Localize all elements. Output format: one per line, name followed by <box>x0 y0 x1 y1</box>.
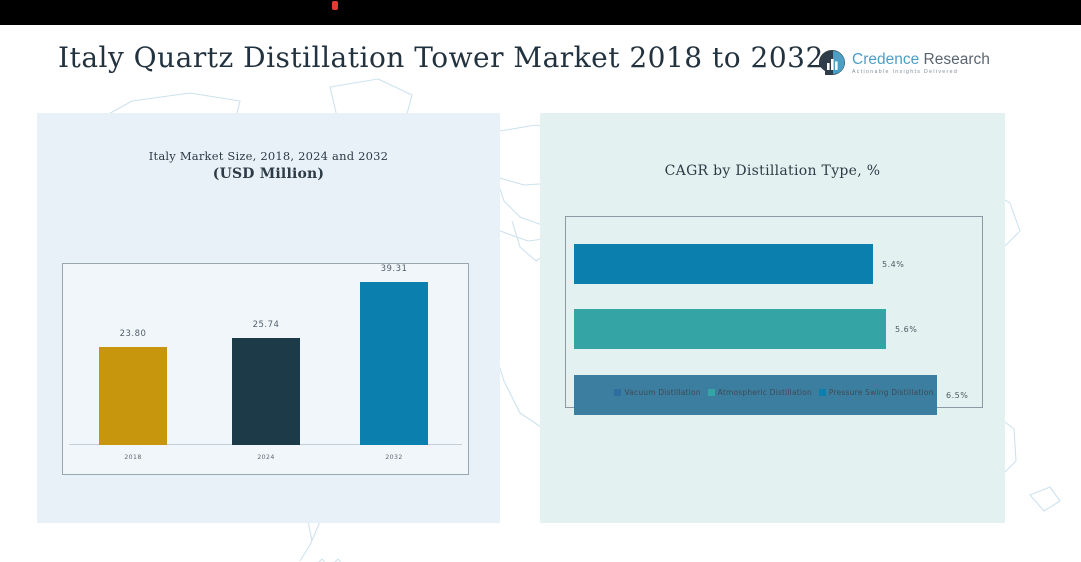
right-panel: CAGR by Distillation Type, % 5.4% 5.6% 6… <box>540 113 1005 523</box>
bar-label-2024: 2024 <box>257 454 274 461</box>
hbar-row-atmospheric[interactable]: 5.6% <box>574 309 917 349</box>
chart-legend: Vacuum Distillation Atmospheric Distilla… <box>566 388 982 397</box>
bar-value-2024: 25.74 <box>253 320 280 330</box>
legend-item-atmospheric[interactable]: Atmospheric Distillation <box>708 388 812 397</box>
legend-label-pressure-swing: Pressure Swing Distillation <box>829 388 934 397</box>
legend-label-atmospheric: Atmospheric Distillation <box>718 388 812 397</box>
logo-name-primary: Credence <box>852 51 919 68</box>
legend-item-vacuum[interactable]: Vacuum Distillation <box>614 388 700 397</box>
legend-swatch-icon <box>708 389 715 396</box>
hbar-atmospheric[interactable] <box>574 309 886 349</box>
bar-group-2024[interactable]: 25.74 2024 <box>232 338 300 445</box>
credence-research-logo[interactable]: Credence Research Actionable Insights De… <box>818 43 988 83</box>
legend-item-pressure-swing[interactable]: Pressure Swing Distillation <box>819 388 934 397</box>
top-black-bar <box>0 0 1081 25</box>
hbar-value-atmospheric: 5.6% <box>895 325 917 334</box>
bar-group-2018[interactable]: 23.80 2018 <box>99 347 167 445</box>
logo-tagline: Actionable Insights Delivered <box>852 68 990 76</box>
cagr-bar-chart[interactable]: 5.4% 5.6% 6.5% Vacuum Distillation Atmos… <box>565 216 983 408</box>
legend-swatch-icon <box>819 389 826 396</box>
header: Italy Quartz Distillation Tower Market 2… <box>0 25 1081 113</box>
bar-group-2032[interactable]: 39.31 2032 <box>360 282 428 445</box>
left-chart-subtitle: (USD Million) <box>37 166 500 182</box>
bar-label-2018: 2018 <box>124 454 141 461</box>
bar-label-2032: 2032 <box>385 454 402 461</box>
hbar-row-vacuum[interactable]: 5.4% <box>574 244 904 284</box>
hbar-value-vacuum: 5.4% <box>882 260 904 269</box>
bar-2024[interactable]: 25.74 2024 <box>232 338 300 445</box>
logo-text: Credence Research Actionable Insights De… <box>852 51 990 76</box>
vertical-bar-plot-area: 23.80 2018 25.74 2024 39.31 2032 <box>63 264 468 474</box>
bar-2032[interactable]: 39.31 2032 <box>360 282 428 445</box>
left-chart-title: Italy Market Size, 2018, 2024 and 2032 <box>37 149 500 163</box>
bar-value-2032: 39.31 <box>381 264 408 274</box>
red-marker-icon <box>332 1 338 10</box>
market-size-bar-chart[interactable]: 23.80 2018 25.74 2024 39.31 2032 <box>62 263 469 475</box>
logo-name-secondary: Research <box>919 51 990 68</box>
legend-label-vacuum: Vacuum Distillation <box>624 388 700 397</box>
bar-value-2018: 23.80 <box>120 329 147 339</box>
infographic-canvas: Italy Quartz Distillation Tower Market 2… <box>0 25 1081 562</box>
bar-2018[interactable]: 23.80 2018 <box>99 347 167 445</box>
legend-swatch-icon <box>614 389 621 396</box>
hbar-vacuum[interactable] <box>574 244 873 284</box>
page-title: Italy Quartz Distillation Tower Market 2… <box>58 39 838 76</box>
logo-name: Credence Research <box>852 51 990 68</box>
left-panel: Italy Market Size, 2018, 2024 and 2032 (… <box>37 113 500 523</box>
right-chart-title: CAGR by Distillation Type, % <box>540 163 1005 179</box>
logo-mark-icon <box>818 49 846 77</box>
